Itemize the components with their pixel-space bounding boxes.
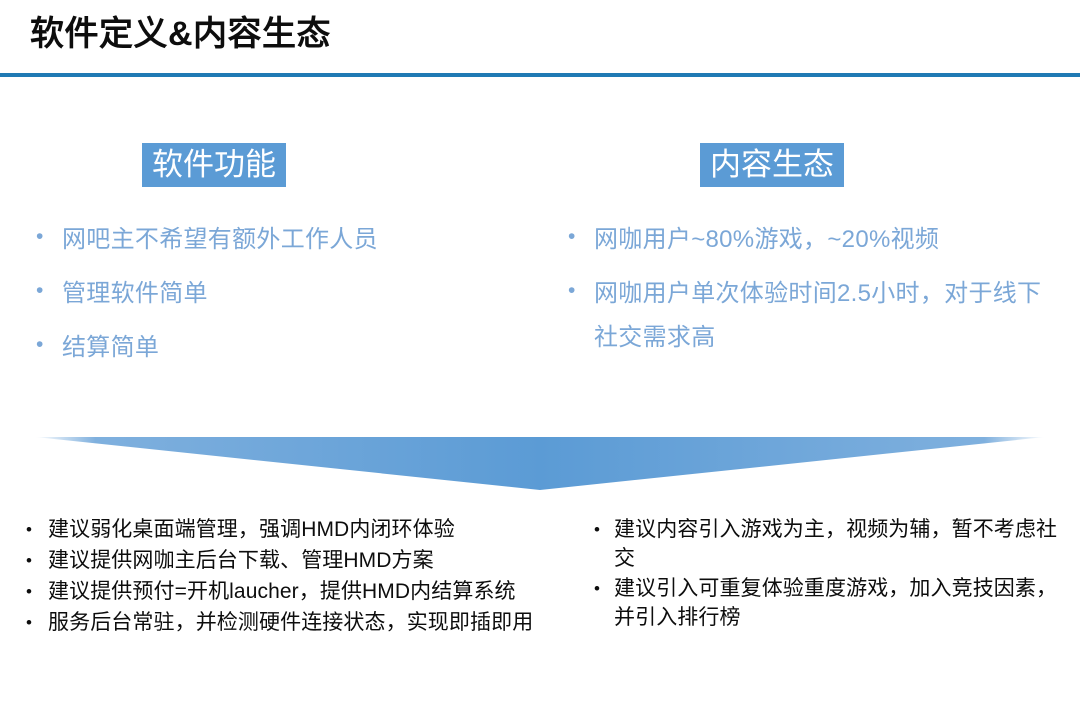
list-item: • 服务后台常驻，并检测硬件连接状态，实现即插即用 — [18, 608, 578, 638]
list-item-label: 网咖用户单次体验时间2.5小时，对于线下社交需求高 — [594, 272, 1060, 360]
bullet-icon: • — [588, 515, 614, 545]
software-feature-list: • 网吧主不希望有额外工作人员 • 管理软件简单 • 结算简单 — [28, 218, 528, 380]
list-item: • 管理软件简单 — [28, 272, 528, 316]
bullet-icon: • — [18, 515, 48, 545]
conclusion-list-right: • 建议内容引入游戏为主，视频为辅，暂不考虑社交 • 建议引入可重复体验重度游戏… — [588, 515, 1058, 633]
page-title: 软件定义&内容生态 — [30, 16, 331, 53]
list-item: • 网咖用户单次体验时间2.5小时，对于线下社交需求高 — [560, 272, 1060, 360]
list-item: • 网吧主不希望有额外工作人员 — [28, 218, 528, 262]
list-item-label: 建议提供预付=开机laucher，提供HMD内结算系统 — [48, 577, 578, 606]
content-ecosystem-list: • 网咖用户~80%游戏，~20%视频 • 网咖用户单次体验时间2.5小时，对于… — [560, 218, 1060, 370]
list-item: • 建议提供网咖主后台下载、管理HMD方案 — [18, 546, 578, 576]
bullet-icon: • — [18, 577, 48, 607]
bullet-icon: • — [28, 218, 62, 256]
section-badge-software: 软件功能 — [142, 143, 286, 187]
list-item: • 网咖用户~80%游戏，~20%视频 — [560, 218, 1060, 262]
section-badge-content: 内容生态 — [700, 143, 844, 187]
title-divider — [0, 73, 1080, 77]
list-item-label: 建议弱化桌面端管理，强调HMD内闭环体验 — [48, 515, 578, 544]
bullet-icon: • — [588, 574, 614, 604]
list-item: • 建议提供预付=开机laucher，提供HMD内结算系统 — [18, 577, 578, 607]
list-item-label: 服务后台常驻，并检测硬件连接状态，实现即插即用 — [48, 608, 578, 637]
bullet-icon: • — [18, 546, 48, 576]
list-item-label: 建议内容引入游戏为主，视频为辅，暂不考虑社交 — [614, 515, 1058, 573]
list-item: • 建议引入可重复体验重度游戏，加入竞技因素，并引入排行榜 — [588, 574, 1058, 632]
list-item-label: 网咖用户~80%游戏，~20%视频 — [594, 218, 1060, 262]
list-item: • 建议内容引入游戏为主，视频为辅，暂不考虑社交 — [588, 515, 1058, 573]
list-item-label: 管理软件简单 — [62, 272, 528, 316]
down-chevron-icon — [0, 430, 1080, 500]
list-item-label: 建议引入可重复体验重度游戏，加入竞技因素，并引入排行榜 — [614, 574, 1058, 632]
bullet-icon: • — [560, 272, 594, 310]
list-item-label: 结算简单 — [62, 326, 528, 370]
bullet-icon: • — [18, 608, 48, 638]
bullet-icon: • — [560, 218, 594, 256]
conclusion-list-left: • 建议弱化桌面端管理，强调HMD内闭环体验 • 建议提供网咖主后台下载、管理H… — [18, 515, 578, 639]
list-item: • 建议弱化桌面端管理，强调HMD内闭环体验 — [18, 515, 578, 545]
list-item-label: 建议提供网咖主后台下载、管理HMD方案 — [48, 546, 578, 575]
list-item-label: 网吧主不希望有额外工作人员 — [62, 218, 528, 262]
bullet-icon: • — [28, 326, 62, 364]
bullet-icon: • — [28, 272, 62, 310]
list-item: • 结算简单 — [28, 326, 528, 370]
